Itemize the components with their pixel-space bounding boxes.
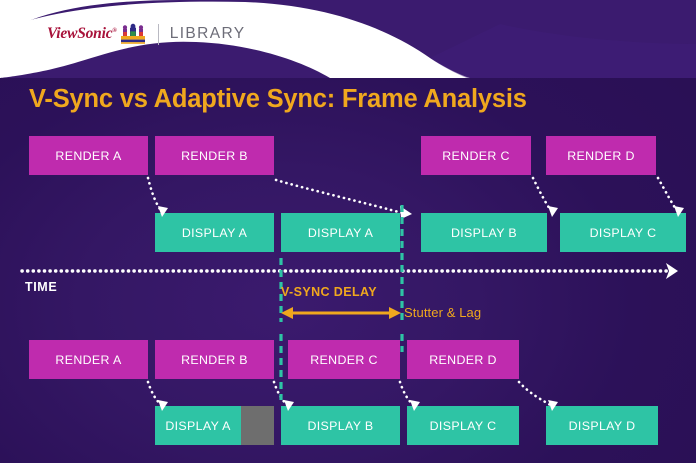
arrow-render-b-to-display-a2: [276, 180, 406, 214]
block-label: RENDER B: [181, 353, 248, 367]
block-label: DISPLAY A: [182, 226, 247, 240]
stutter-lag-label: Stutter & Lag: [404, 305, 481, 320]
vsync-display-block-2: DISPLAY B: [421, 213, 547, 252]
arrow-render-a-to-display-a: [148, 178, 162, 212]
adaptive-display-block-3: DISPLAY C: [407, 406, 519, 445]
adaptive-render-block-2: RENDER C: [288, 340, 400, 379]
vsync-delay-arrow: [281, 307, 401, 319]
viewsonic-library-logo[interactable]: ViewSonic® LIBRARY: [47, 22, 246, 46]
infographic-canvas: ViewSonic® LIBRARY: [0, 0, 696, 463]
arrow-a-render-a-to-display-a: [148, 382, 162, 406]
block-label: RENDER A: [55, 149, 121, 163]
vsync-display-block-0: DISPLAY A: [155, 213, 274, 252]
block-label: DISPLAY D: [569, 419, 636, 433]
viewsonic-wordmark: ViewSonic®: [47, 26, 117, 42]
block-label: DISPLAY A: [308, 226, 373, 240]
adaptive-stall-block-1: [241, 406, 274, 445]
adaptive-render-block-3: RENDER D: [407, 340, 519, 379]
adaptive-flow-arrows: [148, 382, 552, 406]
adaptive-display-block-0: DISPLAY A: [155, 406, 241, 445]
block-label: RENDER D: [567, 149, 635, 163]
block-label: DISPLAY C: [590, 226, 657, 240]
arrow-a-render-c-to-display-c: [400, 382, 414, 406]
arrowhead-display-b: [548, 206, 558, 217]
time-axis-line: [22, 263, 678, 279]
block-label: DISPLAY B: [307, 419, 373, 433]
three-birds-icon: [120, 23, 146, 45]
vsync-display-block-3: DISPLAY C: [560, 213, 686, 252]
page-title: V-Sync vs Adaptive Sync: Frame Analysis: [29, 85, 527, 114]
block-label: DISPLAY B: [451, 226, 517, 240]
block-label: DISPLAY A: [165, 419, 230, 433]
arrow-render-d-to-display-c: [658, 178, 678, 212]
time-axis-label: TIME: [25, 280, 57, 294]
vsync-render-block-1: RENDER B: [155, 136, 274, 175]
arrowhead-display-a2: [400, 206, 412, 219]
vsync-render-block-3: RENDER D: [546, 136, 656, 175]
block-label: RENDER B: [181, 149, 248, 163]
adaptive-display-block-4: DISPLAY D: [546, 406, 658, 445]
block-label: RENDER C: [310, 353, 378, 367]
registered-mark: ®: [112, 28, 116, 34]
vsync-render-block-2: RENDER C: [421, 136, 531, 175]
time-axis-arrowhead: [666, 263, 678, 279]
vsync-display-block-1: DISPLAY A: [281, 213, 400, 252]
block-label: RENDER A: [55, 353, 121, 367]
logo-divider: [158, 24, 159, 45]
header-band: ViewSonic® LIBRARY: [0, 0, 696, 78]
library-wordmark: LIBRARY: [170, 26, 246, 42]
adaptive-render-block-0: RENDER A: [29, 340, 148, 379]
adaptive-display-block-2: DISPLAY B: [281, 406, 400, 445]
block-label: DISPLAY C: [430, 419, 497, 433]
block-label: RENDER C: [442, 149, 510, 163]
vsync-delay-label: V-SYNC DELAY: [281, 285, 377, 299]
adaptive-render-block-1: RENDER B: [155, 340, 274, 379]
vsync-flow-arrows: [148, 178, 678, 214]
vsync-render-block-0: RENDER A: [29, 136, 148, 175]
arrow-a-render-b-to-display-b: [274, 382, 288, 406]
arrow-a-render-d-to-display-d: [519, 382, 552, 406]
arrow-render-c-to-display-b: [533, 178, 552, 212]
block-label: RENDER D: [429, 353, 497, 367]
